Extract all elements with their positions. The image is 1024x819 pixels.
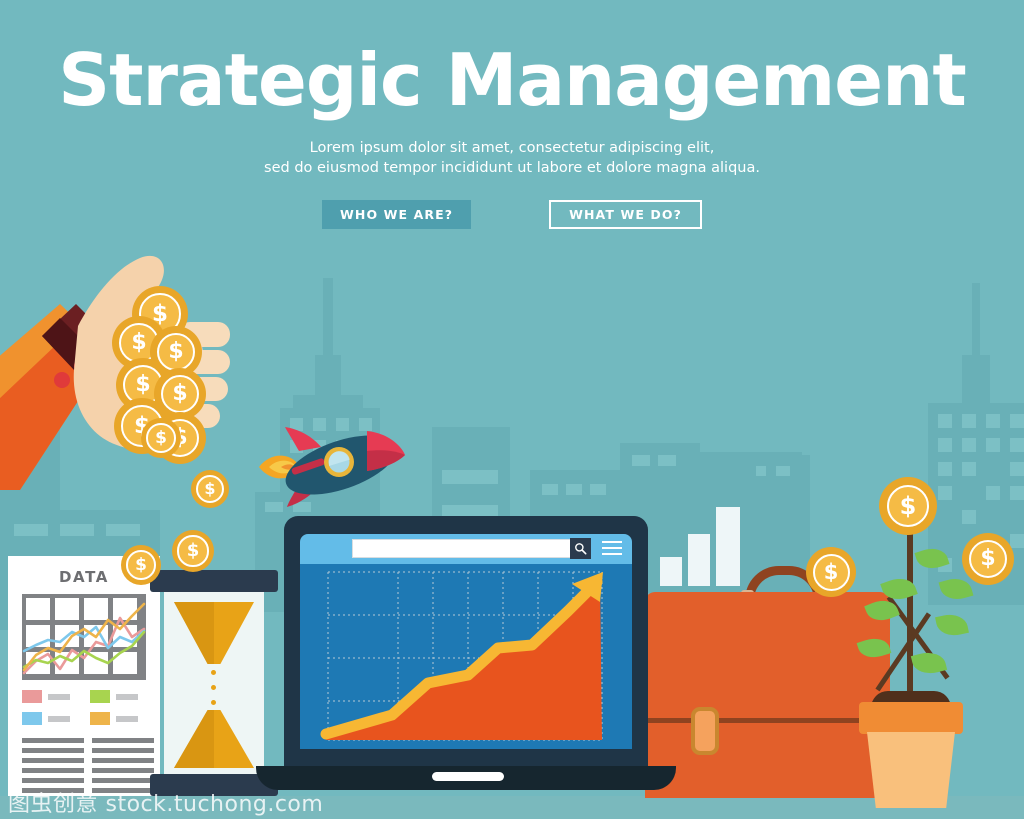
document-chart: [22, 594, 146, 680]
coin-symbol: $: [900, 494, 917, 518]
coin-symbol: $: [824, 562, 839, 583]
plant-coin: $: [806, 547, 856, 597]
plant-stem-main: [907, 532, 913, 700]
plant-leaf: [914, 544, 949, 573]
laptop: [256, 516, 676, 796]
plant-leaf: [939, 574, 974, 603]
legend-label-4: [116, 716, 138, 722]
coin-symbol: $: [172, 383, 187, 405]
sleeve-button: [54, 372, 70, 388]
falling-coin: $: [121, 545, 161, 585]
data-report-document: DATA: [8, 556, 160, 796]
hero-subtitle-line-1: Lorem ipsum dolor sit amet, consectetur …: [0, 116, 1024, 158]
legend-label-1: [48, 694, 70, 700]
falling-sand-dot: [211, 670, 216, 675]
chart-area-fill: [326, 578, 602, 740]
laptop-screen: [300, 564, 632, 749]
coin-symbol: $: [187, 542, 200, 560]
money-plant: [845, 470, 1024, 800]
falling-sand-dot: [211, 685, 216, 690]
plant-leaf: [935, 611, 969, 639]
legend-swatch-3: [90, 690, 110, 703]
briefcase-clasp: [691, 707, 719, 755]
legend-swatch-2: [22, 712, 42, 725]
legend-swatch-4: [90, 712, 110, 725]
plant-leaf: [857, 634, 892, 662]
hero-subtitle-line-2: sed do eiusmod tempor incididunt ut labo…: [0, 158, 1024, 178]
falling-coin: $: [191, 470, 229, 508]
page-title: Strategic Management: [0, 0, 1024, 116]
search-icon[interactable]: [570, 538, 591, 559]
coin-symbol: $: [204, 481, 215, 497]
plant-leaf: [864, 595, 900, 626]
coin-symbol: $: [135, 374, 150, 396]
hamburger-menu-icon[interactable]: [602, 541, 622, 556]
falling-coin: $: [172, 530, 214, 572]
legend-label-3: [116, 694, 138, 700]
rocket: [255, 415, 415, 515]
who-we-are-button[interactable]: WHO WE ARE?: [322, 200, 471, 229]
plant-coin: $: [962, 533, 1014, 585]
hero-section: Strategic Management Lorem ipsum dolor s…: [0, 0, 1024, 229]
growth-area-chart: [300, 564, 632, 749]
coin-symbol: $: [135, 557, 147, 574]
plant-pot-rim: [859, 702, 963, 734]
plant-pot-body: [867, 732, 955, 808]
watermark: 图虫创意 stock.tuchong.com: [8, 786, 323, 818]
coin-symbol: $: [131, 332, 146, 354]
coin-symbol: $: [168, 341, 183, 363]
search-input[interactable]: [352, 539, 574, 558]
plant-coin: $: [879, 477, 937, 535]
document-line-series: [22, 594, 146, 680]
what-we-do-button[interactable]: WHAT WE DO?: [549, 200, 702, 229]
coin-symbol: $: [155, 430, 167, 447]
falling-coin: $: [141, 418, 181, 458]
hero-button-group: WHO WE ARE? WHAT WE DO?: [0, 200, 1024, 229]
laptop-trackpad: [432, 772, 504, 781]
coin-symbol: $: [980, 548, 995, 570]
legend-swatch-1: [22, 690, 42, 703]
legend-label-2: [48, 716, 70, 722]
illustration-canvas: Strategic Management Lorem ipsum dolor s…: [0, 0, 1024, 819]
falling-sand-dot: [211, 700, 216, 705]
